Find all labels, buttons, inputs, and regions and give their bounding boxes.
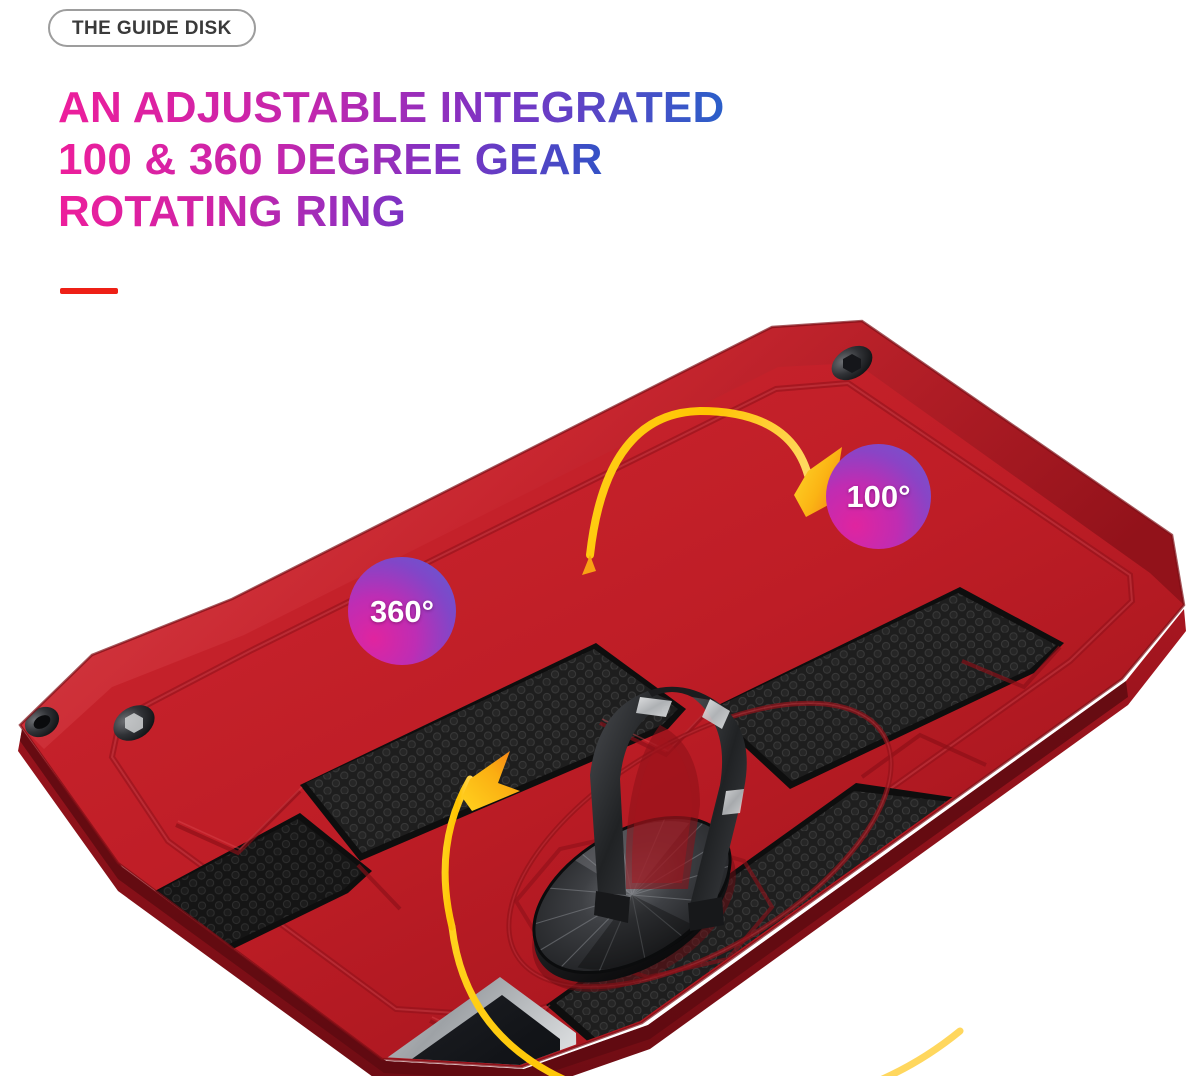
case-side-buttons bbox=[584, 1069, 800, 1076]
badge-100-degrees: 100° bbox=[826, 444, 931, 549]
accent-rule bbox=[60, 288, 118, 294]
grip-stripes-right bbox=[1082, 801, 1162, 867]
guide-disk-badge-label: THE GUIDE DISK bbox=[72, 19, 232, 38]
product-photo bbox=[0, 305, 1200, 1076]
badge-360-degrees: 360° bbox=[348, 557, 456, 665]
headline-line-3: ROTATING RING bbox=[58, 186, 406, 238]
headline-line-2: 100 & 360 DEGREE GEAR bbox=[58, 134, 603, 186]
headline-line-1: AN ADJUSTABLE INTEGRATED bbox=[58, 82, 724, 134]
guide-disk-badge: THE GUIDE DISK bbox=[48, 9, 256, 47]
page-title: AN ADJUSTABLE INTEGRATED 100 & 360 DEGRE… bbox=[58, 82, 858, 238]
badge-100-degrees-label: 100° bbox=[846, 481, 910, 512]
badge-360-degrees-label: 360° bbox=[370, 596, 434, 627]
